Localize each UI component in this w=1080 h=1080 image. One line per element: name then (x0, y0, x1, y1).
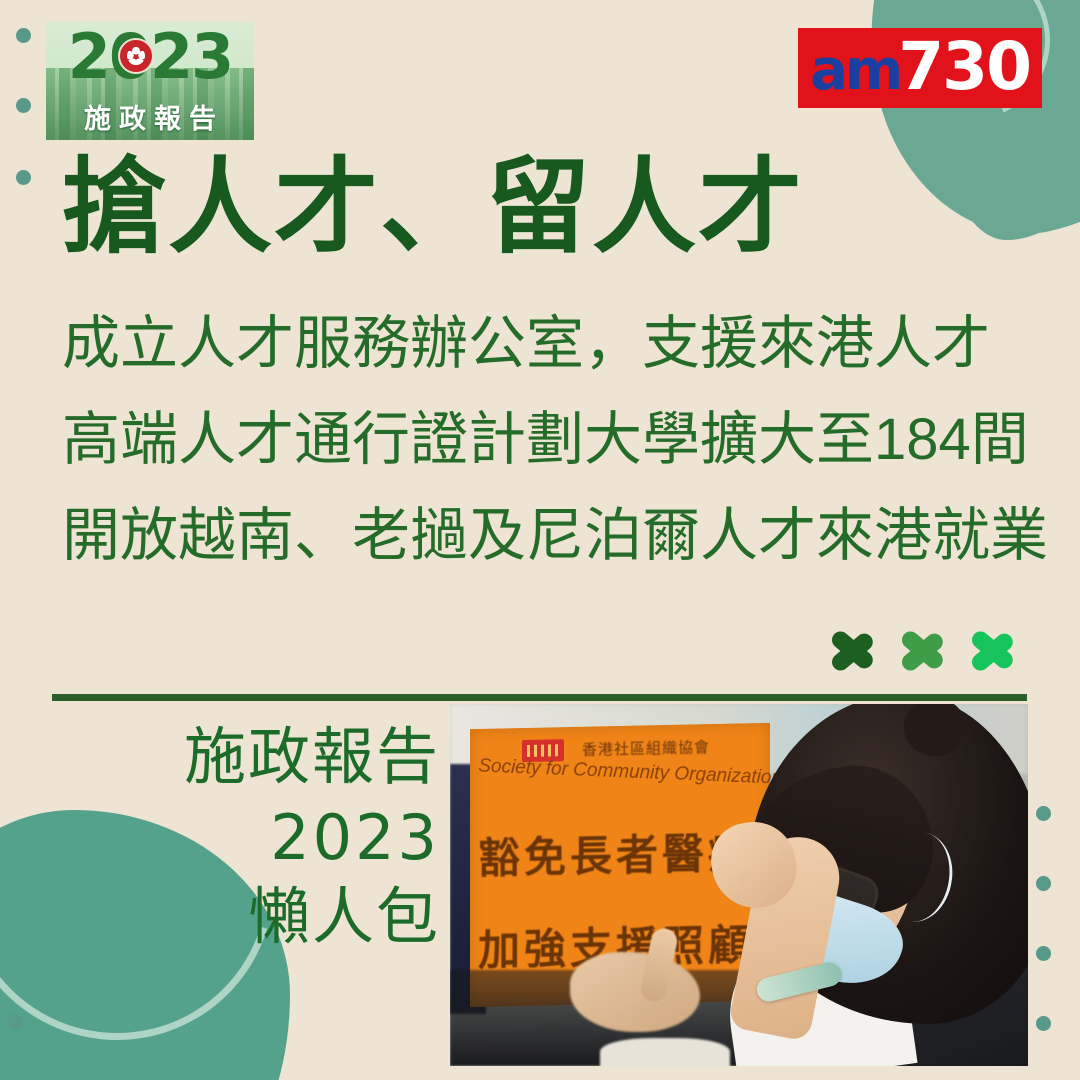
caregiver-photo: 香港社區組織協會 Society for Community Organizat… (450, 704, 1028, 1066)
decorative-dot (1036, 1016, 1051, 1031)
next-arrows-group[interactable] (826, 612, 1028, 690)
chevron-right-icon[interactable] (966, 612, 1028, 690)
footer-label-line3: 懶人包 (130, 878, 440, 958)
horizontal-divider (52, 694, 1027, 701)
bullet-item: 開放越南、老撾及尼泊爾人才來港就業 (62, 488, 1042, 584)
decorative-dot (16, 170, 31, 185)
decorative-dot (16, 28, 31, 43)
decorative-dot (1036, 806, 1051, 821)
decorative-dot (1036, 876, 1051, 891)
decorative-dot (16, 98, 31, 113)
logo-subtitle-text: 施政報告 (46, 104, 254, 134)
banner-org-name-cn: 香港社區組織協會 (582, 736, 710, 760)
am730-prefix-text: am (810, 43, 900, 99)
footer-series-label: 施政報告 2023 懶人包 (130, 718, 440, 958)
footer-label-line2: 2023 (130, 798, 440, 878)
decorative-dot (1036, 946, 1051, 961)
bullet-item: 高端人才通行證計劃大學擴大至184間 (62, 392, 1042, 488)
am730-logo[interactable]: am 730 (798, 28, 1042, 108)
hong-kong-bauhinia-emblem-icon (118, 38, 154, 74)
footer-label-line1: 施政報告 (130, 718, 440, 798)
photo-white-sheet (600, 1038, 730, 1066)
bullet-item: 成立人才服務辦公室，支援來港人才 (62, 296, 1042, 392)
am730-number-text: 730 (898, 34, 1030, 100)
chevron-right-icon[interactable] (896, 612, 958, 690)
chevron-right-icon[interactable] (826, 612, 888, 690)
decorative-dot (8, 1014, 23, 1029)
poster-canvas: 2023 施政報告 am 730 搶人才、留人才 成立人才服務辦公室，支援來港人… (0, 0, 1080, 1080)
policy-address-2023-logo: 2023 施政報告 (46, 22, 254, 140)
bullet-list: 成立人才服務辦公室，支援來港人才 高端人才通行證計劃大學擴大至184間 開放越南… (62, 296, 1042, 584)
page-title: 搶人才、留人才 (62, 152, 804, 264)
